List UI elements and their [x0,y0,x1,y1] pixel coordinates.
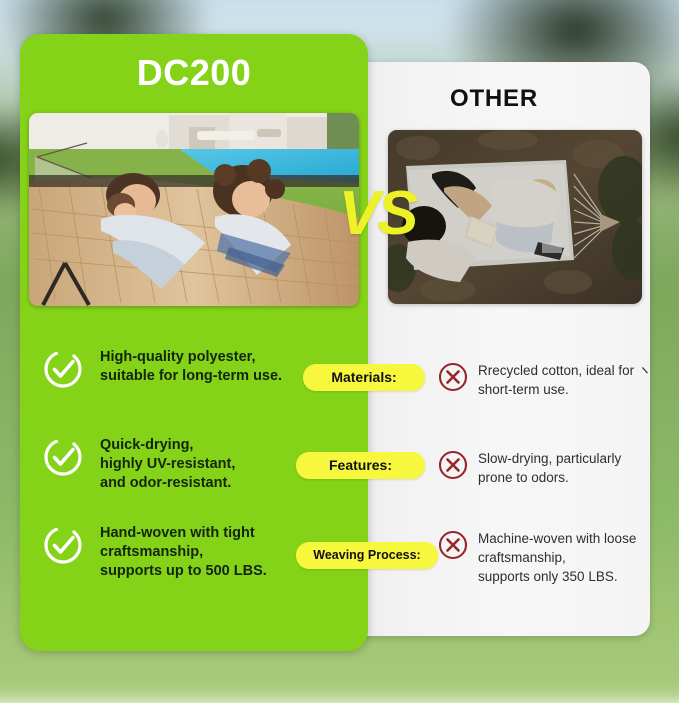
check-circle-icon [42,348,84,390]
check-circle-icon [42,524,84,566]
hammock-family-photo [29,113,359,306]
con-text: Slow-drying, particularly prone to odors… [478,449,621,487]
con-text: Machine-woven with loose craftsmanship, … [478,529,636,586]
pro-row: Hand-woven with tight craftsmanship, sup… [42,524,267,581]
comparison-label-features: Features: [296,452,425,479]
con-text: Rrecycled cotton, ideal for ヽ short-term… [478,361,651,399]
comparison-label-weaving-process: Weaving Process: [296,542,438,569]
con-row: Slow-drying, particularly prone to odors… [437,449,621,487]
cross-circle-icon [437,361,469,393]
dc200-title: DC200 [20,52,368,94]
pro-text: Quick-drying, highly UV-resistant, and o… [100,436,235,493]
versus-badge: VS [331,176,423,252]
con-row: Rrecycled cotton, ideal for ヽ short-term… [437,361,651,399]
comparison-label-materials: Materials: [303,364,425,391]
pro-text: High-quality polyester, suitable for lon… [100,348,282,386]
cross-circle-icon [437,449,469,481]
pro-text: Hand-woven with tight craftsmanship, sup… [100,524,267,581]
pro-row: Quick-drying, highly UV-resistant, and o… [42,436,235,493]
cross-circle-icon [437,529,469,561]
pro-row: High-quality polyester, suitable for lon… [42,348,282,390]
hammock-couple-photo [388,130,642,304]
other-title: OTHER [338,85,650,113]
con-row: Machine-woven with loose craftsmanship, … [437,529,636,586]
check-circle-icon [42,436,84,478]
